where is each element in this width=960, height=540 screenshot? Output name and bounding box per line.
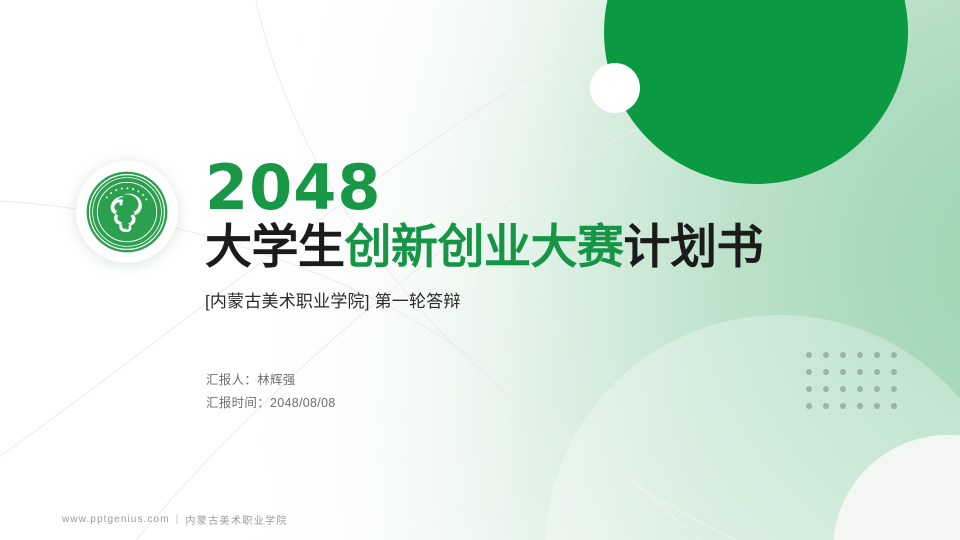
slide-footer: www.pptgenius.com | 内蒙古美术职业学院 [62, 512, 288, 527]
footer-organization: 内蒙古美术职业学院 [185, 512, 288, 527]
presenter-meta: 汇报人：林辉强 汇报时间：2048/08/08 [206, 369, 336, 415]
decorative-circle-white-small [590, 63, 640, 113]
headline-segment-black-1: 大学生 [205, 220, 345, 273]
footer-website[interactable]: www.pptgenius.com [62, 514, 170, 525]
subtitle: [内蒙古美术职业学院] 第一轮答辩 [205, 287, 845, 312]
headline-segment-black-2: 计划书 [624, 220, 764, 273]
college-logo [76, 161, 178, 263]
presentation-slide: 2048 大学生创新创业大赛计划书 [内蒙古美术职业学院] 第一轮答辩 汇报人：… [0, 0, 960, 540]
footer-separator: | [176, 514, 180, 525]
main-headline: 大学生创新创业大赛计划书 [205, 221, 845, 274]
title-block: 2048 大学生创新创业大赛计划书 [内蒙古美术职业学院] 第一轮答辩 [205, 158, 845, 312]
presenter-name-line: 汇报人：林辉强 [206, 369, 336, 392]
presentation-date-line: 汇报时间：2048/08/08 [206, 392, 336, 415]
headline-segment-green: 创新创业大赛 [345, 220, 624, 273]
emblem-icon [84, 169, 170, 255]
year-heading: 2048 [205, 158, 845, 219]
decorative-dot-grid [806, 352, 908, 420]
